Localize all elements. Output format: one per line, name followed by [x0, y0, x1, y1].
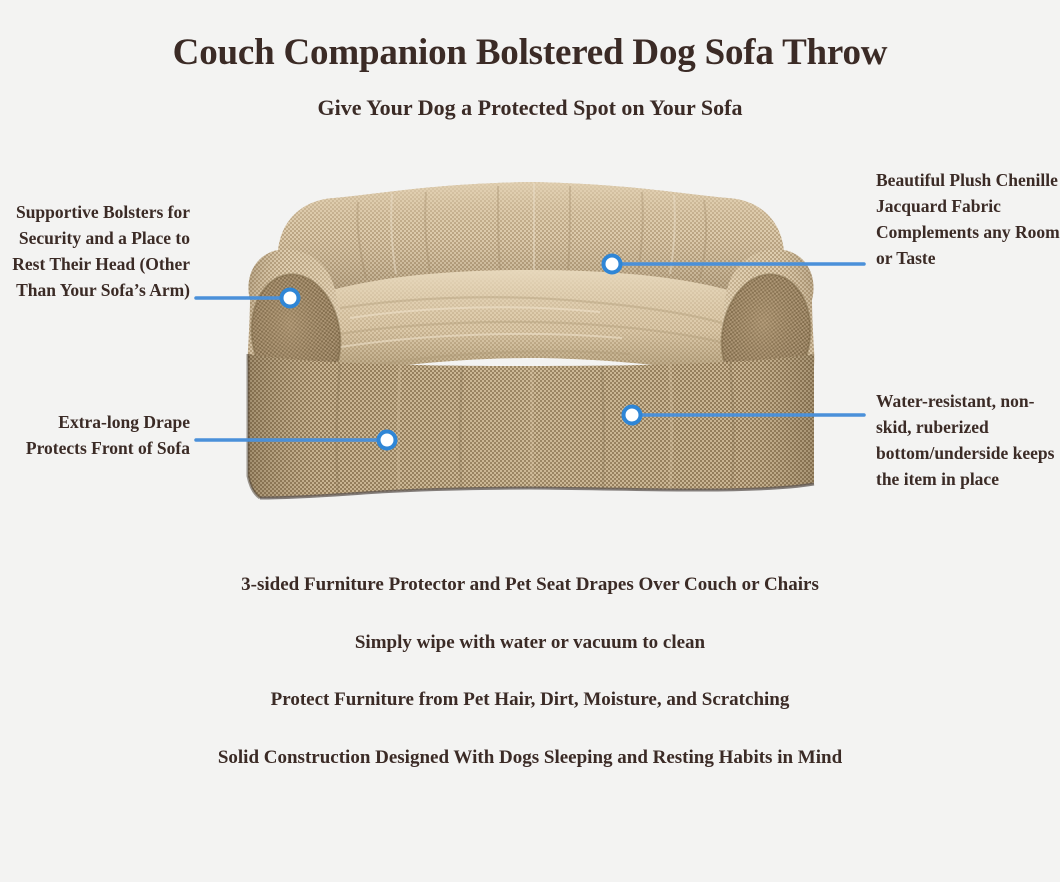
seat-cushion [301, 270, 759, 380]
feature-item: 3-sided Furniture Protector and Pet Seat… [180, 572, 880, 598]
callout-text-fabric: Beautiful Plush Chenille Jacquard Fabric… [876, 168, 1060, 272]
page-subtitle: Give Your Dog a Protected Spot on Your S… [0, 95, 1060, 120]
feature-item: Solid Construction Designed With Dogs Sl… [180, 745, 880, 771]
callout-text-bottom: Water-resistant, non-skid, ruberized bot… [876, 389, 1060, 493]
feature-item: Simply wipe with water or vacuum to clea… [180, 630, 880, 656]
callout-text-drape: Extra-long Drape Protects Front of Sofa [0, 410, 190, 462]
infographic-page: Couch Companion Bolstered Dog Sofa Throw… [0, 0, 1060, 882]
front-drape [248, 354, 814, 498]
page-title: Couch Companion Bolstered Dog Sofa Throw [0, 33, 1060, 74]
callout-text-bolsters: Supportive Bolsters for Security and a P… [0, 200, 190, 304]
feature-item: Protect Furniture from Pet Hair, Dirt, M… [180, 687, 880, 713]
product-image [230, 168, 830, 513]
feature-list: 3-sided Furniture Protector and Pet Seat… [180, 572, 880, 771]
dog-sofa-throw-illustration [230, 168, 830, 513]
